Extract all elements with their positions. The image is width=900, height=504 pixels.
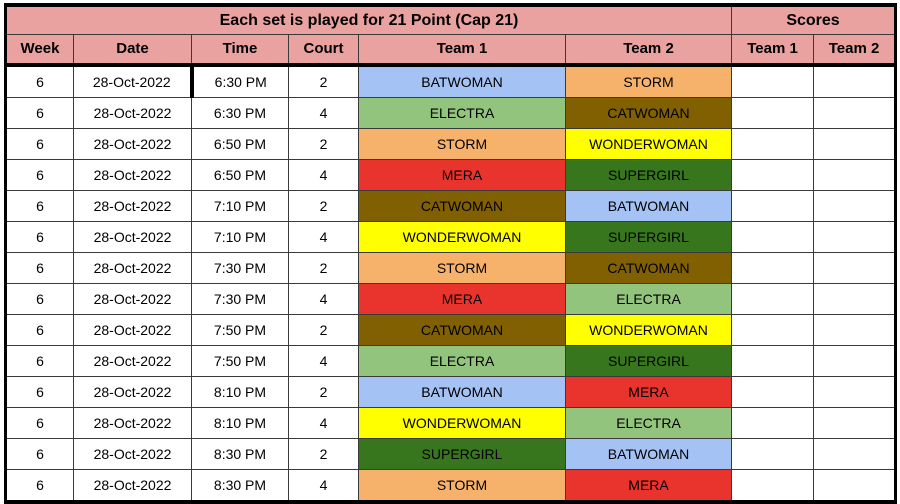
match-date: 28-Oct-2022 [74, 408, 192, 439]
title-row: Each set is played for 21 Point (Cap 21)… [6, 5, 896, 35]
match-team1: STORM [359, 253, 566, 284]
match-week: 6 [6, 346, 74, 377]
match-time: 6:50 PM [192, 129, 289, 160]
match-team2: MERA [566, 470, 732, 503]
match-team1: BATWOMAN [359, 65, 566, 98]
match-court: 2 [289, 253, 359, 284]
match-team1: ELECTRA [359, 98, 566, 129]
score-team1[interactable] [732, 129, 814, 160]
match-date: 28-Oct-2022 [74, 222, 192, 253]
match-court: 2 [289, 315, 359, 346]
column-header-week: Week [6, 35, 74, 66]
match-time: 8:30 PM [192, 439, 289, 470]
match-team2: CATWOMAN [566, 98, 732, 129]
match-court: 2 [289, 129, 359, 160]
table-row: 628-Oct-20227:50 PM4ELECTRASUPERGIRL [6, 346, 896, 377]
match-week: 6 [6, 160, 74, 191]
column-header-row: Week Date Time Court Team 1 Team 2 Team … [6, 35, 896, 66]
column-header-score-team1: Team 1 [732, 35, 814, 66]
column-header-court: Court [289, 35, 359, 66]
score-team1[interactable] [732, 160, 814, 191]
table-row: 628-Oct-20227:50 PM2CATWOMANWONDERWOMAN [6, 315, 896, 346]
table-row: 628-Oct-20228:10 PM2BATWOMANMERA [6, 377, 896, 408]
match-date: 28-Oct-2022 [74, 377, 192, 408]
match-team1: STORM [359, 129, 566, 160]
match-date: 28-Oct-2022 [74, 191, 192, 222]
score-team2[interactable] [814, 98, 896, 129]
score-team1[interactable] [732, 470, 814, 503]
match-date: 28-Oct-2022 [74, 160, 192, 191]
table-body: 628-Oct-20226:30 PM2BATWOMANSTORM628-Oct… [6, 65, 896, 502]
match-team1: WONDERWOMAN [359, 222, 566, 253]
table-row: 628-Oct-20228:30 PM2SUPERGIRLBATWOMAN [6, 439, 896, 470]
score-team2[interactable] [814, 222, 896, 253]
match-week: 6 [6, 222, 74, 253]
match-time: 7:30 PM [192, 284, 289, 315]
match-time: 7:50 PM [192, 315, 289, 346]
table-row: 628-Oct-20228:30 PM4STORMMERA [6, 470, 896, 503]
score-team2[interactable] [814, 253, 896, 284]
match-team2: ELECTRA [566, 408, 732, 439]
match-time: 8:10 PM [192, 408, 289, 439]
match-date: 28-Oct-2022 [74, 346, 192, 377]
score-team2[interactable] [814, 439, 896, 470]
match-court: 4 [289, 408, 359, 439]
match-week: 6 [6, 65, 74, 98]
match-court: 4 [289, 470, 359, 503]
score-team1[interactable] [732, 284, 814, 315]
match-team2: ELECTRA [566, 284, 732, 315]
match-team2: WONDERWOMAN [566, 129, 732, 160]
match-week: 6 [6, 253, 74, 284]
score-team1[interactable] [732, 253, 814, 284]
match-court: 2 [289, 191, 359, 222]
table-row: 628-Oct-20227:30 PM2STORMCATWOMAN [6, 253, 896, 284]
match-team1: CATWOMAN [359, 315, 566, 346]
match-date: 28-Oct-2022 [74, 65, 192, 98]
match-team2: CATWOMAN [566, 253, 732, 284]
schedule-title: Each set is played for 21 Point (Cap 21) [6, 5, 732, 35]
match-court: 4 [289, 346, 359, 377]
score-team1[interactable] [732, 408, 814, 439]
match-team2: MERA [566, 377, 732, 408]
match-court: 4 [289, 160, 359, 191]
match-week: 6 [6, 98, 74, 129]
match-time: 6:30 PM [192, 65, 289, 98]
match-schedule-table: Each set is played for 21 Point (Cap 21)… [4, 3, 897, 504]
table-row: 628-Oct-20227:10 PM4WONDERWOMANSUPERGIRL [6, 222, 896, 253]
score-team1[interactable] [732, 65, 814, 98]
table-header: Each set is played for 21 Point (Cap 21)… [6, 5, 896, 65]
score-team2[interactable] [814, 377, 896, 408]
match-date: 28-Oct-2022 [74, 129, 192, 160]
column-header-time: Time [192, 35, 289, 66]
score-team1[interactable] [732, 346, 814, 377]
match-team2: SUPERGIRL [566, 160, 732, 191]
match-team1: MERA [359, 284, 566, 315]
match-week: 6 [6, 129, 74, 160]
score-team2[interactable] [814, 129, 896, 160]
scores-group-title: Scores [732, 5, 896, 35]
match-team2: SUPERGIRL [566, 222, 732, 253]
match-team1: WONDERWOMAN [359, 408, 566, 439]
match-date: 28-Oct-2022 [74, 470, 192, 503]
score-team2[interactable] [814, 284, 896, 315]
match-team1: CATWOMAN [359, 191, 566, 222]
score-team2[interactable] [814, 160, 896, 191]
table-row: 628-Oct-20226:30 PM4ELECTRACATWOMAN [6, 98, 896, 129]
match-date: 28-Oct-2022 [74, 253, 192, 284]
table-row: 628-Oct-20228:10 PM4WONDERWOMANELECTRA [6, 408, 896, 439]
match-week: 6 [6, 470, 74, 503]
table-row: 628-Oct-20227:10 PM2CATWOMANBATWOMAN [6, 191, 896, 222]
table-row: 628-Oct-20227:30 PM4MERAELECTRA [6, 284, 896, 315]
match-team1: ELECTRA [359, 346, 566, 377]
match-team1: MERA [359, 160, 566, 191]
match-court: 2 [289, 439, 359, 470]
score-team2[interactable] [814, 408, 896, 439]
match-time: 7:10 PM [192, 191, 289, 222]
match-team2: BATWOMAN [566, 191, 732, 222]
match-time: 7:50 PM [192, 346, 289, 377]
score-team1[interactable] [732, 315, 814, 346]
match-team1: STORM [359, 470, 566, 503]
score-team2[interactable] [814, 346, 896, 377]
match-court: 4 [289, 222, 359, 253]
match-team1: SUPERGIRL [359, 439, 566, 470]
match-team1: BATWOMAN [359, 377, 566, 408]
score-team1[interactable] [732, 191, 814, 222]
match-team2: SUPERGIRL [566, 346, 732, 377]
score-team2[interactable] [814, 65, 896, 98]
match-team2: STORM [566, 65, 732, 98]
match-week: 6 [6, 191, 74, 222]
score-team2[interactable] [814, 315, 896, 346]
match-court: 4 [289, 98, 359, 129]
table-row: 628-Oct-20226:30 PM2BATWOMANSTORM [6, 65, 896, 98]
match-time: 7:30 PM [192, 253, 289, 284]
match-week: 6 [6, 408, 74, 439]
match-date: 28-Oct-2022 [74, 284, 192, 315]
score-team1[interactable] [732, 377, 814, 408]
match-time: 6:50 PM [192, 160, 289, 191]
score-team1[interactable] [732, 98, 814, 129]
match-time: 7:10 PM [192, 222, 289, 253]
score-team1[interactable] [732, 439, 814, 470]
match-week: 6 [6, 377, 74, 408]
column-header-score-team2: Team 2 [814, 35, 896, 66]
match-date: 28-Oct-2022 [74, 98, 192, 129]
match-team2: WONDERWOMAN [566, 315, 732, 346]
match-team2: BATWOMAN [566, 439, 732, 470]
match-court: 4 [289, 284, 359, 315]
column-header-team2: Team 2 [566, 35, 732, 66]
column-header-date: Date [74, 35, 192, 66]
match-time: 8:10 PM [192, 377, 289, 408]
table-row: 628-Oct-20226:50 PM4MERASUPERGIRL [6, 160, 896, 191]
match-date: 28-Oct-2022 [74, 439, 192, 470]
match-court: 2 [289, 65, 359, 98]
column-header-team1: Team 1 [359, 35, 566, 66]
match-week: 6 [6, 439, 74, 470]
schedule-container: Each set is played for 21 Point (Cap 21)… [0, 0, 900, 498]
match-week: 6 [6, 284, 74, 315]
match-week: 6 [6, 315, 74, 346]
score-team2[interactable] [814, 191, 896, 222]
match-date: 28-Oct-2022 [74, 315, 192, 346]
table-row: 628-Oct-20226:50 PM2STORMWONDERWOMAN [6, 129, 896, 160]
match-time: 6:30 PM [192, 98, 289, 129]
match-court: 2 [289, 377, 359, 408]
score-team1[interactable] [732, 222, 814, 253]
score-team2[interactable] [814, 470, 896, 503]
match-time: 8:30 PM [192, 470, 289, 503]
